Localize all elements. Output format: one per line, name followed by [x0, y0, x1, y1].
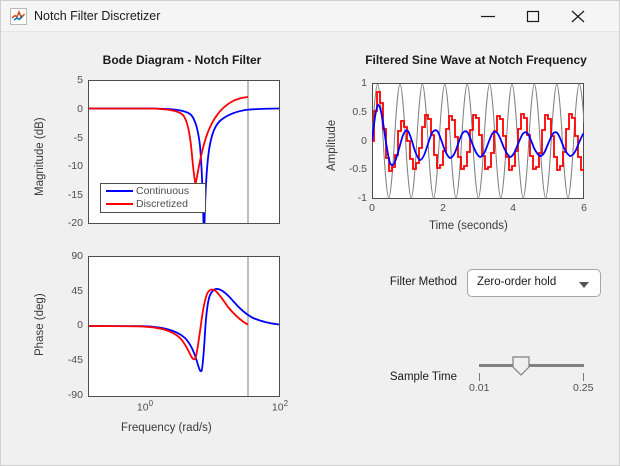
- bode-chart-title: Bode Diagram - Notch Filter: [47, 53, 317, 67]
- bode-phase-plot: [88, 256, 280, 397]
- mag-ytick-n20: -20: [47, 217, 83, 229]
- legend-label-discretized: Discretized: [136, 198, 188, 210]
- bode-xlabel: Frequency (rad/s): [121, 422, 212, 434]
- sample-time-slider[interactable]: [479, 364, 584, 367]
- matlab-membrane-icon: [10, 8, 27, 25]
- phase-ytick-n90: -90: [47, 389, 83, 401]
- legend-label-continuous: Continuous: [136, 185, 189, 197]
- filter-method-dropdown[interactable]: Zero-order hold: [467, 269, 601, 297]
- time-ytick-05: 0.5: [335, 106, 367, 118]
- sample-time-min-tick: [479, 373, 480, 381]
- bode-xtick-1e0: 100: [127, 399, 163, 414]
- bode-xtick-1e2: 102: [262, 399, 298, 414]
- sample-time-min-label: 0.01: [469, 382, 489, 394]
- sample-time-max-tick: [583, 373, 584, 381]
- mag-ytick-0: 0: [47, 103, 83, 115]
- title-bar: Notch Filter Discretizer: [1, 1, 620, 32]
- time-ytick-n05: -0.5: [335, 163, 367, 175]
- filtered-sine-plot: [372, 83, 584, 199]
- filter-method-label: Filter Method: [361, 276, 457, 288]
- mag-ytick-n15: -15: [47, 189, 83, 201]
- mag-ytick-n10: -10: [47, 160, 83, 172]
- time-xtick-4: 4: [498, 202, 528, 214]
- sample-time-label: Sample Time: [357, 371, 457, 383]
- timeplot-chart-title: Filtered Sine Wave at Notch Frequency: [331, 53, 620, 67]
- phase-ytick-45: 45: [47, 285, 83, 297]
- filter-method-value: Zero-order hold: [477, 276, 556, 288]
- time-xtick-2: 2: [428, 202, 458, 214]
- maximize-icon: [525, 10, 541, 23]
- time-ytick-0: 0: [335, 135, 367, 147]
- time-xtick-0: 0: [357, 202, 387, 214]
- bode-magnitude-ylabel: Magnitude (dB): [34, 117, 46, 196]
- close-icon: [570, 10, 586, 23]
- maximize-button[interactable]: [511, 1, 556, 32]
- sample-time-max-label: 0.25: [573, 382, 593, 394]
- app-window: Notch Filter Discretizer Bode Diagram - …: [0, 0, 620, 466]
- phase-ytick-0: 0: [47, 319, 83, 331]
- minimize-button[interactable]: [466, 1, 511, 32]
- phase-ytick-n45: -45: [47, 354, 83, 366]
- chevron-down-icon: [579, 282, 589, 288]
- bode-phase-ylabel: Phase (deg): [34, 293, 46, 356]
- time-ytick-1: 1: [335, 77, 367, 89]
- close-button[interactable]: [556, 1, 601, 32]
- timeplot-xlabel: Time (seconds): [429, 220, 508, 232]
- mag-ytick-5: 5: [47, 74, 83, 86]
- time-xtick-6: 6: [569, 202, 599, 214]
- window-title: Notch Filter Discretizer: [34, 8, 160, 25]
- minimize-icon: [480, 10, 496, 23]
- mag-ytick-n5: -5: [47, 132, 83, 144]
- phase-ytick-90: 90: [47, 250, 83, 262]
